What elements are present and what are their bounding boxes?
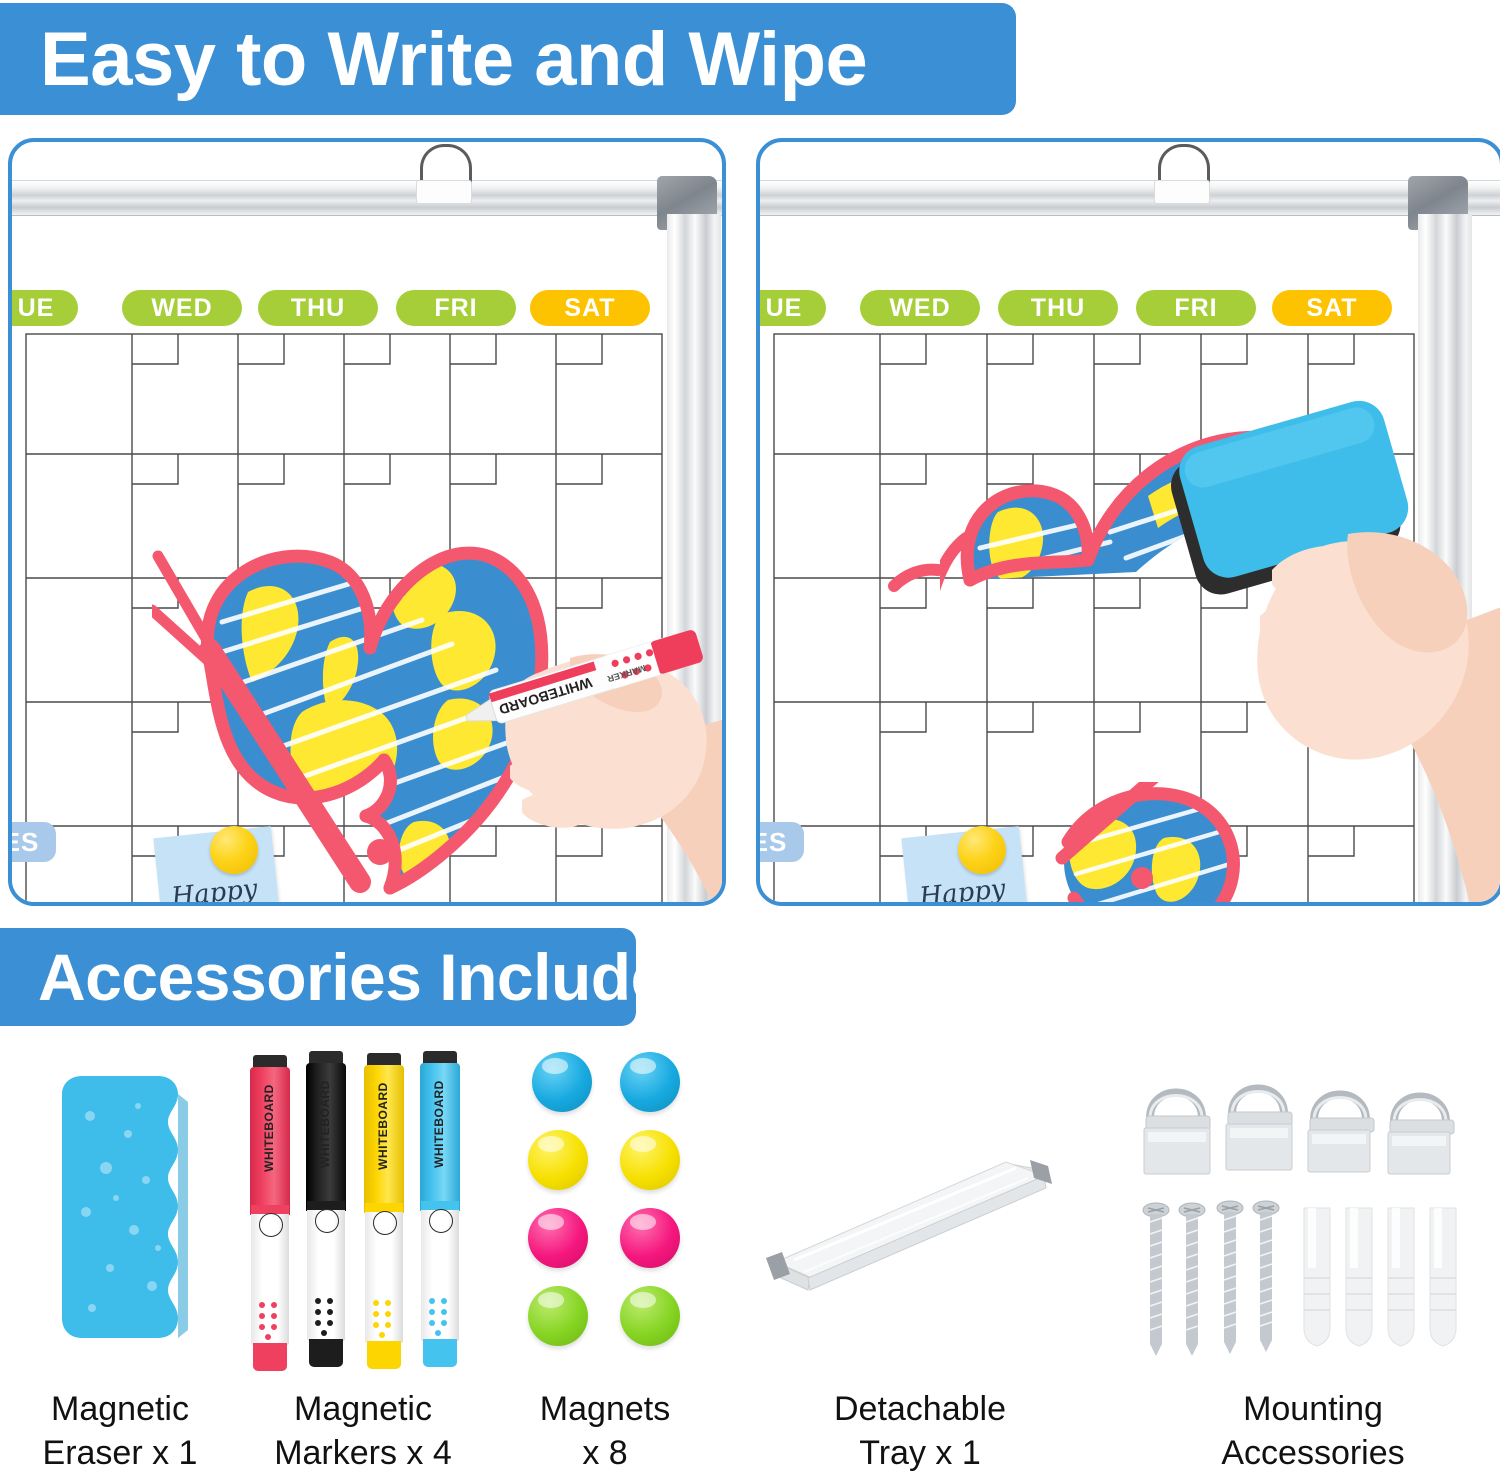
marker-dots: [368, 1297, 400, 1339]
caption-tray: Detachable Tray x 1: [790, 1388, 1050, 1475]
notes-label-pill: ES: [760, 822, 804, 862]
board-top-frame: [12, 180, 722, 216]
section-title-write-wipe: Easy to Write and Wipe: [0, 3, 1016, 115]
section-title-text: Easy to Write and Wipe: [40, 16, 867, 103]
magnet-pink-1: [528, 1208, 588, 1268]
yellow-magnet-on-note: [210, 826, 258, 874]
section-title-text: Accessories Included: [38, 939, 707, 1015]
day-pill-fri: FRI: [396, 290, 516, 326]
magnetic-eraser-icon: [42, 1072, 232, 1362]
detachable-tray-icon: [760, 1150, 1080, 1320]
mounting-hardware-icon: [1126, 1062, 1476, 1372]
day-pill-tue: UE: [12, 290, 78, 326]
caption-line-2: Tray x 1: [859, 1434, 981, 1472]
magnet-green-1: [528, 1286, 588, 1346]
marker-label: WHITEBOARD: [318, 1059, 332, 1189]
caption-magnets: Magnets x 8: [500, 1388, 710, 1475]
magnet-blue-2: [620, 1052, 680, 1112]
marker-dots: [310, 1295, 342, 1337]
day-pill-fri: FRI: [1136, 290, 1256, 326]
board-hanger-base: [1154, 180, 1210, 204]
caption-mounting: Mounting Accessories: [1168, 1388, 1458, 1475]
caption-line-1: Mounting: [1243, 1390, 1383, 1428]
caption-line-1: Magnetic: [294, 1390, 432, 1428]
yellow-magnet-on-note: [958, 826, 1006, 874]
sticky-note-text: Happy: [918, 874, 1007, 902]
caption-line-2: x 8: [582, 1434, 627, 1472]
caption-markers: Magnetic Markers x 4: [248, 1388, 478, 1475]
magnet-yellow-1: [528, 1130, 588, 1190]
marker-label: WHITEBOARD: [262, 1063, 276, 1193]
writing-demo-panel: UE WED THU FRI SAT: [8, 138, 726, 906]
day-pill-sat: SAT: [1272, 290, 1392, 326]
marker-label: WHITEBOARD: [376, 1061, 390, 1191]
caption-line-1: Magnets: [540, 1390, 670, 1428]
day-pill-sat: SAT: [530, 290, 650, 326]
caption-line-1: Detachable: [834, 1390, 1006, 1428]
board-top-frame: [760, 180, 1500, 216]
day-pill-wed: WED: [122, 290, 242, 326]
board-right-rail: [1418, 214, 1472, 902]
caption-line-2: Markers x 4: [274, 1434, 452, 1472]
accessory-eraser: [42, 1072, 232, 1367]
erasing-demo-panel: UE WED THU FRI SAT: [756, 138, 1500, 906]
marker-dots: [254, 1299, 286, 1341]
caption-line-1: Magnetic: [51, 1390, 189, 1428]
accessory-tray: [760, 1150, 1080, 1325]
accessory-magnets: [524, 1052, 704, 1372]
day-pill-tue: UE: [760, 290, 826, 326]
board-right-rail: [667, 214, 721, 902]
day-pill-wed: WED: [860, 290, 980, 326]
marker-label: WHITEBOARD: [432, 1059, 446, 1189]
magnet-green-2: [620, 1286, 680, 1346]
caption-line-2: Eraser x 1: [43, 1434, 198, 1472]
board-hanger-base: [416, 180, 472, 204]
magnet-pink-2: [620, 1208, 680, 1268]
section-title-accessories: Accessories Included: [0, 928, 636, 1026]
accessory-mounting: [1126, 1062, 1476, 1377]
caption-eraser: Magnetic Eraser x 1: [10, 1388, 230, 1475]
magnet-blue-1: [532, 1052, 592, 1112]
marker-dots: [424, 1295, 456, 1337]
magnet-yellow-2: [620, 1130, 680, 1190]
caption-line-2: Accessories: [1221, 1434, 1404, 1472]
day-pill-thu: THU: [258, 290, 378, 326]
day-pill-thu: THU: [998, 290, 1118, 326]
notes-label-pill: ES: [12, 822, 56, 862]
sticky-note-text: Happy: [170, 874, 259, 902]
